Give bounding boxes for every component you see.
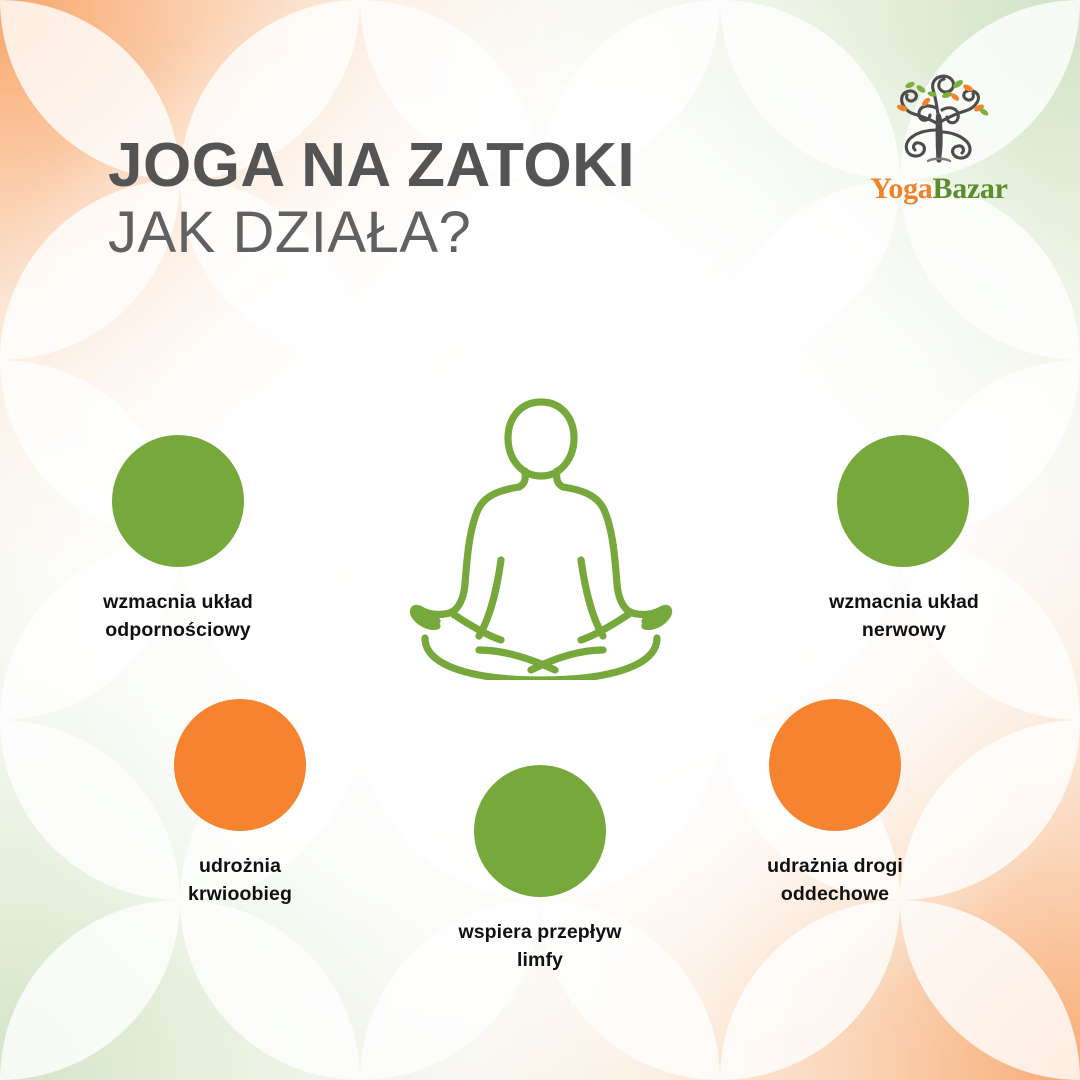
benefit-dot-blood-circulation [174, 699, 306, 831]
benefit-dot-immune [112, 435, 244, 567]
benefit-label-airways: udrażnia drogi oddechowe [699, 853, 971, 908]
benefit-item-nervous[interactable]: wzmacnia układ nerwowy [768, 435, 1040, 644]
title-main-line: JOGA NA ZATOKI [108, 134, 868, 197]
benefit-dot-nervous [837, 435, 969, 567]
benefit-label-lymph: wspiera przepływ limfy [404, 919, 676, 974]
benefit-item-lymph[interactable]: wspiera przepływ limfy [404, 765, 676, 974]
benefit-label-immune: wzmacnia układ odpornościowy [42, 589, 314, 644]
benefit-dot-airways [769, 699, 901, 831]
lotus-pose-meditating-figure-icon [395, 388, 687, 680]
page-title: JOGA NA ZATOKI JAK DZIAŁA? [108, 134, 868, 266]
poster-content: JOGA NA ZATOKI JAK DZIAŁA? [0, 0, 1080, 1080]
benefit-item-blood-circulation[interactable]: udrożnia krwioobieg [104, 699, 376, 908]
brand-name-second: Bazar [932, 172, 1007, 205]
benefit-item-immune[interactable]: wzmacnia układ odpornościowy [42, 435, 314, 644]
benefit-label-blood-circulation: udrożnia krwioobieg [104, 853, 376, 908]
benefit-dot-lymph [474, 765, 606, 897]
brand-name-first: Yoga [870, 172, 932, 205]
yoga-tree-logo-icon [880, 64, 998, 168]
benefit-label-nervous: wzmacnia układ nerwowy [768, 589, 1040, 644]
title-sub-line: JAK DZIAŁA? [108, 201, 868, 266]
brand-name: YogaBazar [844, 172, 1034, 206]
brand-logo[interactable]: YogaBazar [844, 64, 1034, 206]
benefit-item-airways[interactable]: udrażnia drogi oddechowe [699, 699, 971, 908]
infographic-poster: JOGA NA ZATOKI JAK DZIAŁA? [0, 0, 1080, 1080]
